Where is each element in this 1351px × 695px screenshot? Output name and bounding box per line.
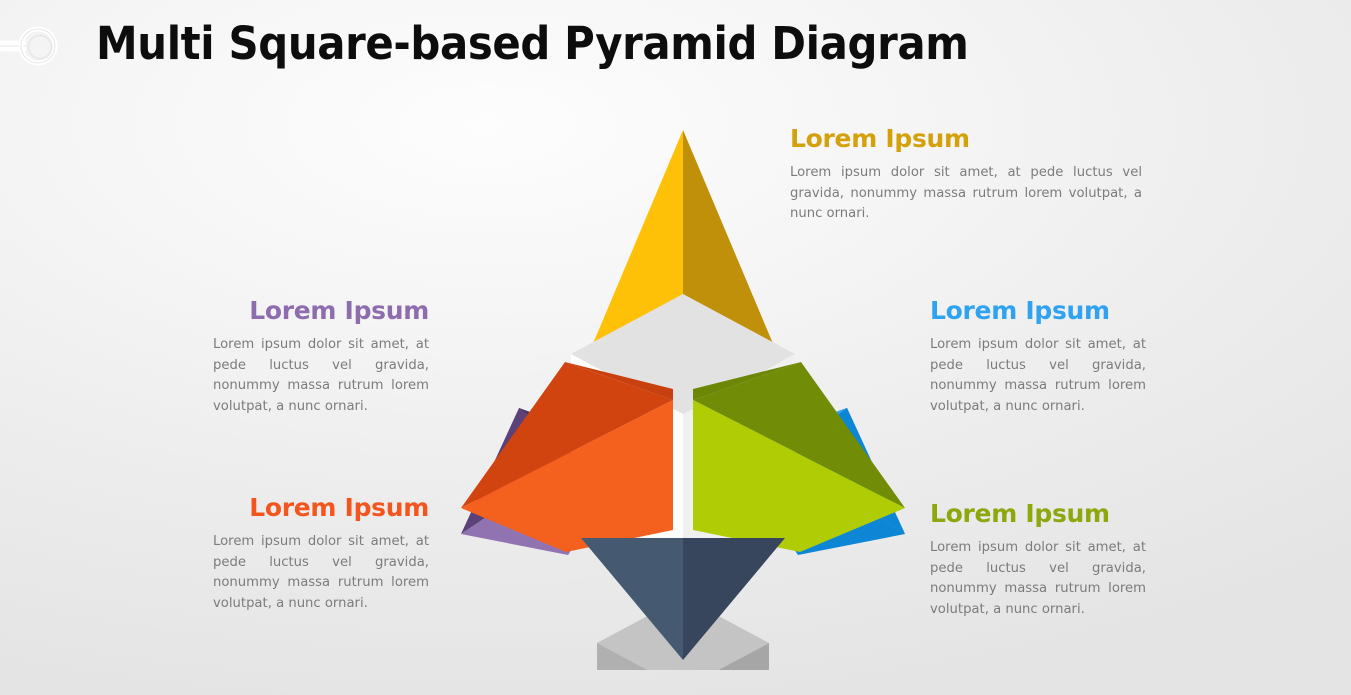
text-block-title: Lorem Ipsum: [790, 124, 1142, 154]
text-block-title: Lorem Ipsum: [930, 499, 1146, 529]
text-block-right-middle: Lorem Ipsum Lorem ipsum dolor sit amet, …: [930, 296, 1146, 418]
text-block-left-bottom: Lorem Ipsum Lorem ipsum dolor sit amet, …: [213, 493, 429, 615]
magnifier-icon: [0, 22, 64, 70]
text-block-right-bottom: Lorem Ipsum Lorem ipsum dolor sit amet, …: [930, 499, 1146, 621]
page-title: Multi Square-based Pyramid Diagram: [96, 12, 968, 76]
text-block-body: Lorem ipsum dolor sit amet, at pede luct…: [930, 335, 1146, 418]
text-block-body: Lorem ipsum dolor sit amet, at pede luct…: [213, 532, 429, 615]
text-block-body: Lorem ipsum dolor sit amet, at pede luct…: [213, 335, 429, 418]
text-block-title: Lorem Ipsum: [213, 296, 429, 326]
text-block-body: Lorem ipsum dolor sit amet, at pede luct…: [930, 538, 1146, 621]
text-block-top-right: Lorem Ipsum Lorem ipsum dolor sit amet, …: [790, 124, 1142, 225]
text-block-left-middle: Lorem Ipsum Lorem ipsum dolor sit amet, …: [213, 296, 429, 418]
slide-header: Multi Square-based Pyramid Diagram: [0, 0, 1351, 92]
slide-canvas: Multi Square-based Pyramid Diagram: [0, 0, 1351, 695]
text-block-body: Lorem ipsum dolor sit amet, at pede luct…: [790, 163, 1142, 225]
text-block-title: Lorem Ipsum: [213, 493, 429, 523]
text-block-title: Lorem Ipsum: [930, 296, 1146, 326]
